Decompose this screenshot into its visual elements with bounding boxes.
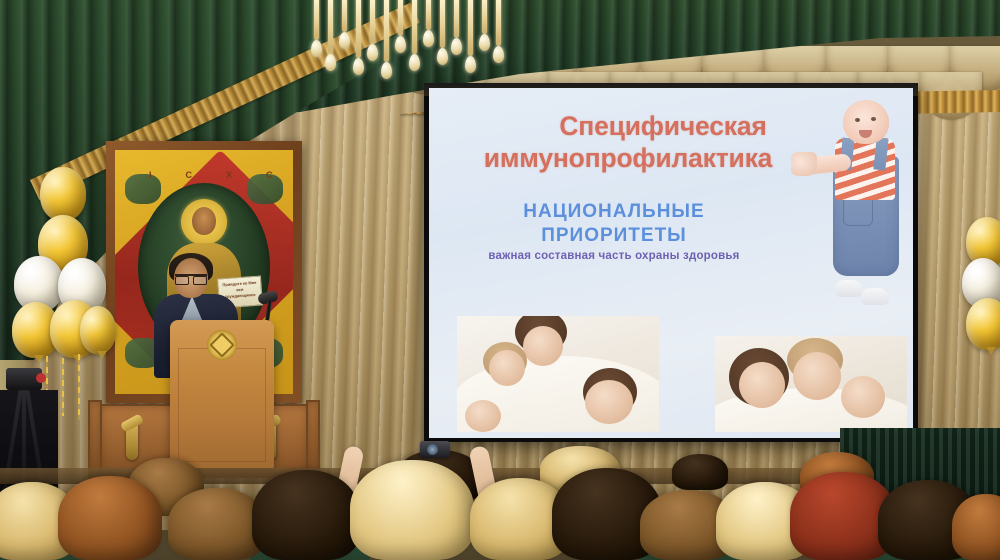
baby-eye-right xyxy=(871,117,876,121)
slide-heading-line-2: ПРИОРИТЕТЫ xyxy=(541,225,687,246)
baby-eye-left xyxy=(855,118,860,122)
audience-head xyxy=(672,454,728,490)
handheld-camera xyxy=(420,441,450,458)
presenter-eyeglasses xyxy=(175,274,207,281)
lectern-gold-crest xyxy=(207,330,237,360)
photo-baby-face xyxy=(465,400,501,432)
balloon-ribbon-left-3 xyxy=(78,354,80,420)
projection-screen: Специфическая иммунопрофилактика НАЦИОНА… xyxy=(424,84,918,442)
slide-title-line-1: Специфическая xyxy=(443,110,813,142)
photo-father2-face xyxy=(793,352,841,400)
balloon-gold-5 xyxy=(80,306,116,354)
audience-head xyxy=(952,494,1000,560)
slide-heading-line-1: НАЦИОНАЛЬНЫЕ xyxy=(523,201,704,222)
slide-title-line-2: иммунопрофилактика xyxy=(443,142,813,174)
presentation-slide: Специфическая иммунопрофилактика НАЦИОНА… xyxy=(429,88,913,438)
slide-photo-parents-baby xyxy=(715,336,907,432)
adult-hand-holding-baby xyxy=(791,152,817,176)
icon-inscription-ic: IC xyxy=(149,170,226,180)
balloon-ribbon-left-2 xyxy=(62,358,64,416)
crystal-chandelier-icon xyxy=(310,0,510,70)
conference-photo-scene: Приидите ко Мне вси труждающиися ICXC Сп… xyxy=(0,0,1000,560)
icon-inscription-xc: XC xyxy=(226,170,293,180)
photo-mother2-face xyxy=(739,362,785,408)
slide-photo-family-bed xyxy=(457,316,659,432)
baby-shoe-right xyxy=(861,288,889,305)
photo-baby2-face xyxy=(841,376,885,418)
photo-father-face xyxy=(585,380,633,424)
balloon-gold-7 xyxy=(966,298,1000,350)
slide-photo-baby xyxy=(791,94,909,326)
photo-mother-face xyxy=(523,326,563,366)
slide-title: Специфическая иммунопрофилактика xyxy=(443,110,813,174)
baby-shoe-left xyxy=(835,280,863,297)
audience-head xyxy=(58,476,162,560)
balloon-gold-1 xyxy=(40,167,86,221)
photo-child-face xyxy=(489,350,525,386)
video-camera-body xyxy=(6,368,42,390)
slide-heading: НАЦИОНАЛЬНЫЕ ПРИОРИТЕТЫ xyxy=(449,200,779,248)
icon-inscription: ICXC xyxy=(115,170,293,180)
icon-christ-face xyxy=(192,207,216,235)
slide-subtitle: важная составная часть охраны здоровья xyxy=(439,250,789,262)
audience-head xyxy=(350,460,474,560)
audience-rows xyxy=(0,440,1000,560)
audience-head xyxy=(252,470,360,560)
